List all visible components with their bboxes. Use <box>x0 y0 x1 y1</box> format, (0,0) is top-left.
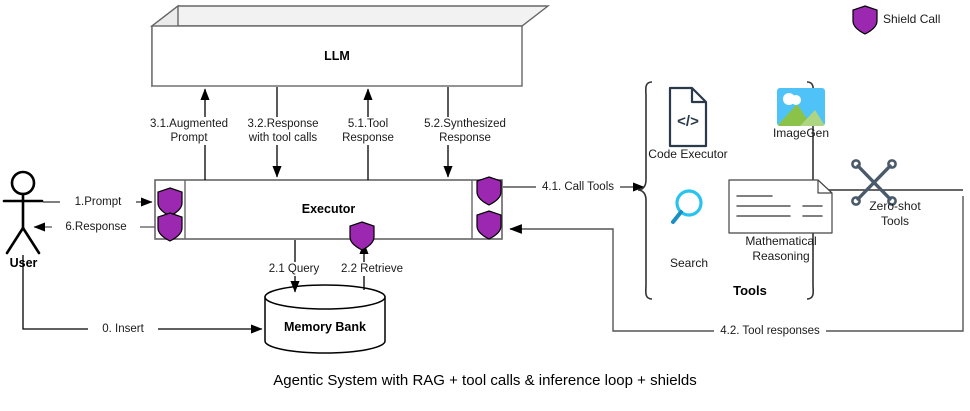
edge-label-response: 6.Response <box>52 220 140 234</box>
code-document-icon: </> <box>670 88 706 146</box>
formula-document-icon <box>729 180 832 233</box>
edge-label-call-tools: 4.1. Call Tools <box>536 180 620 194</box>
user-stick-figure <box>4 172 42 253</box>
edge-label-augmented-prompt: 3.1.Augmented Prompt <box>142 117 236 145</box>
tools-group-label: Tools <box>690 283 810 298</box>
legend-label: Shield Call <box>883 12 969 27</box>
edge-label-response-tool-calls: 3.2.Response with tool calls <box>232 117 334 145</box>
diagram-canvas: </> <box>0 0 970 411</box>
tool-label-code-executor: Code Executor <box>641 147 735 162</box>
edge-label-insert: 0. Insert <box>88 322 158 336</box>
llm-label: LLM <box>152 49 522 63</box>
edge-label-synthesized-response: 5.2.Synthesized Response <box>413 117 517 145</box>
diagram-caption: Agentic System with RAG + tool calls & i… <box>0 372 970 389</box>
image-icon <box>777 88 825 126</box>
user-label: User <box>0 256 47 270</box>
llm-box <box>152 6 548 86</box>
shield-executor-memory <box>350 222 374 250</box>
tool-label-zero-shot-tools: Zero-shot Tools <box>840 199 950 228</box>
magnifier-icon <box>673 191 701 222</box>
edge-insert-arrow <box>23 255 262 329</box>
edge-label-prompt: 1.Prompt <box>60 195 136 209</box>
tool-label-math-reasoning: Mathematical Reasoning <box>723 234 839 263</box>
edge-label-retrieve: 2.2 Retrieve <box>330 262 414 276</box>
svg-text:</>: </> <box>677 113 699 130</box>
edge-label-query: 2.1 Query <box>258 262 330 276</box>
shield-legend-icon <box>853 6 877 34</box>
edge-label-tool-responses: 4.2. Tool responses <box>714 324 826 338</box>
tool-label-search: Search <box>654 256 724 271</box>
memory-bank-cylinder <box>265 285 385 353</box>
crossed-wrenches-icon <box>852 160 895 204</box>
edge-label-tool-response: 5.1.Tool Response <box>328 117 408 145</box>
memory-bank-label: Memory Bank <box>265 320 385 334</box>
executor-label: Executor <box>185 202 472 216</box>
tool-label-imagegen: ImageGen <box>761 126 841 141</box>
